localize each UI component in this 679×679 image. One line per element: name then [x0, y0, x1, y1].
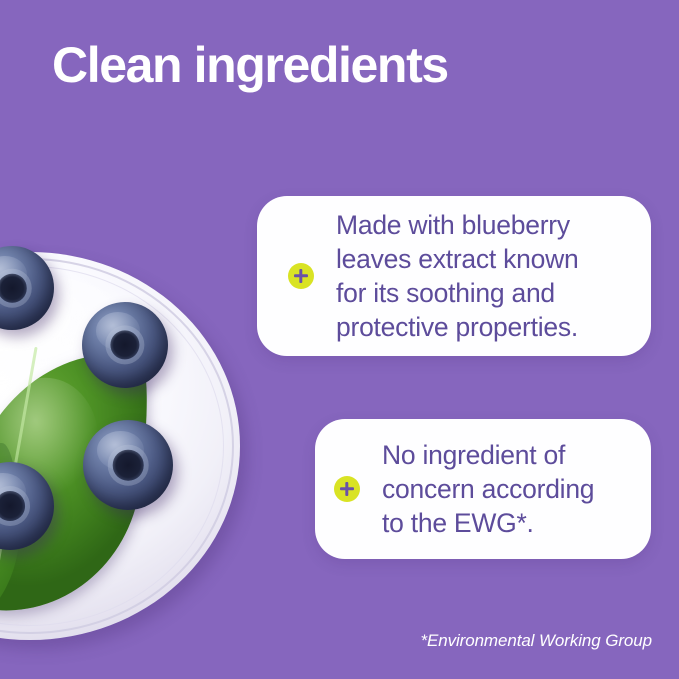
berry-bloom	[0, 256, 27, 293]
page-title: Clean ingredients	[52, 36, 448, 94]
footnote: *Environmental Working Group	[420, 630, 652, 652]
berry-bloom	[0, 473, 26, 512]
promo-graphic: Clean ingredients	[0, 0, 679, 679]
plus-icon	[334, 476, 360, 502]
blueberry	[83, 420, 173, 510]
berry-bloom	[97, 431, 144, 471]
product-photo	[0, 252, 250, 652]
info-card-text: No ingredient of concern according to th…	[382, 438, 594, 540]
info-card-text: Made with blueberry leaves extract known…	[336, 208, 578, 344]
berry-bloom	[96, 312, 141, 350]
info-card-ewg: No ingredient of concern according to th…	[315, 419, 651, 559]
plus-icon	[288, 263, 314, 289]
info-card-ingredients: Made with blueberry leaves extract known…	[257, 196, 651, 356]
blueberry	[82, 302, 168, 388]
